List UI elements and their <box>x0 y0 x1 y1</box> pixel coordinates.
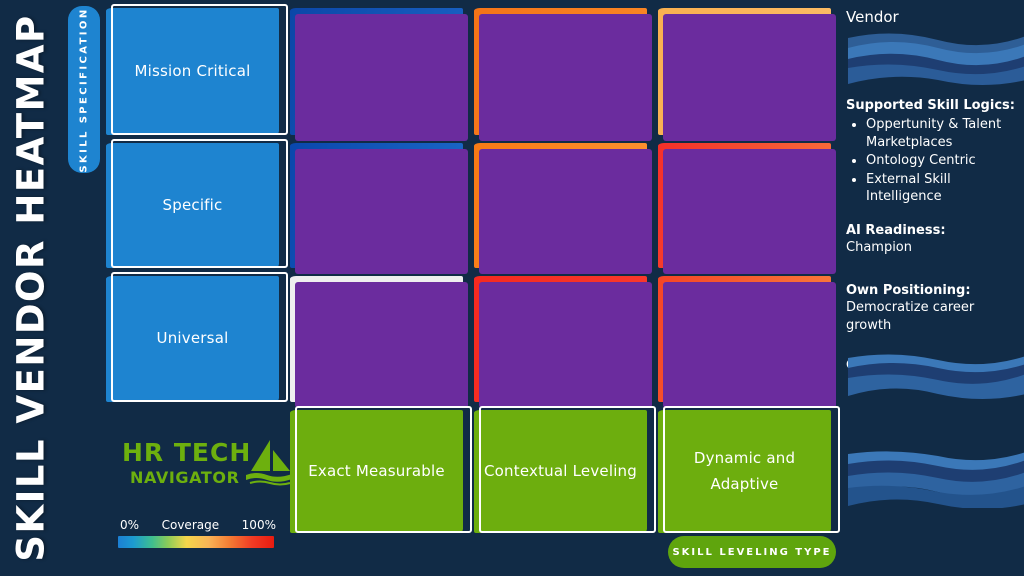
page-title: SKILL VENDOR HEATMAP <box>0 0 62 576</box>
heatmap-cell-label: 5 SKILLS AHEAD <box>680 63 810 80</box>
row-label-text: Universal <box>157 328 229 350</box>
heatmap-cell-card: 5 SKILLS AHEAD <box>658 8 831 135</box>
row-label-card: Universal <box>106 276 279 402</box>
heatmap-cell-label: ZERO-TOLERANCE ENVIRONMENTS <box>300 55 453 89</box>
column-label-card: Contextual Leveling <box>474 410 647 533</box>
heatmap-cell-card: ACT UNDER UNCERTAINCY <box>658 276 831 402</box>
heatmap-cell-card: LIQUID SKILL REQUIREMENTS <box>658 143 831 268</box>
column-label-cell[interactable]: Exact Measurable <box>290 410 463 533</box>
heatmap-cell-card: NONE (INTENTIONALLY) <box>290 276 463 402</box>
section-value: Champion <box>846 239 1022 257</box>
heatmap-cell-label: MASTER OF PROCESS <box>484 189 637 223</box>
heatmap-cell[interactable]: MASTER OF PROCESS <box>474 143 647 268</box>
heatmap-cell-label: SUFFICIENT, NOT PERFECT <box>484 322 637 356</box>
heatmap-cell[interactable]: SKILL-AS-A-LICENSE <box>290 143 463 268</box>
row-label-card: Specific <box>106 143 279 268</box>
vendor-sidebar: Vendor Supported Skill Logics: Oppertuni… <box>840 0 1024 576</box>
list-item: External Skill Intelligence <box>866 171 1022 206</box>
y-axis-label-tab: SKILL SPECIFICATION <box>68 6 100 173</box>
column-label-cell[interactable]: Contextual Leveling <box>474 410 647 533</box>
y-axis-label-text: SKILL SPECIFICATION <box>79 7 90 172</box>
heatmap-cell[interactable]: LIQUID SKILL REQUIREMENTS <box>658 143 831 268</box>
row-label-cell[interactable]: Universal <box>106 276 279 402</box>
legend-title: Coverage <box>162 518 220 532</box>
sailboat-icon <box>240 438 296 490</box>
heatmap-row: Mission Critical ZERO-TOLERANCE ENVIRONM… <box>106 8 836 135</box>
section-heading: AI Readiness: <box>846 223 1022 239</box>
coverage-legend: 0% Coverage 100% <box>118 518 278 548</box>
section-heading: Own Positioning: <box>846 283 1022 299</box>
heatmap-cell[interactable]: ZERO-TOLERANCE ENVIRONMENTS <box>290 8 463 135</box>
heatmap-cell-label: SKILL-AS-A-LICENSE <box>300 189 453 223</box>
heatmap-cell[interactable]: NONE (INTENTIONALLY) <box>290 276 463 402</box>
heatmap-cell-card: MASTER OF PROCESS <box>474 143 647 268</box>
row-label-card: Mission Critical <box>106 8 279 135</box>
skill-logics-list: Oppertunity & Talent Marketplaces Ontolo… <box>866 116 1022 206</box>
sidebar-section-clients: Clients: <box>846 358 1022 374</box>
column-label-card: Dynamic and Adaptive <box>658 410 831 533</box>
heatmap-cell-label: ACT UNDER UNCERTAINCY <box>668 322 821 356</box>
skill-vendor-heatmap-page: SKILL VENDOR HEATMAP SKILL SPECIFICATION… <box>0 0 1024 576</box>
section-heading: Clients: <box>846 358 1022 374</box>
list-item: Ontology Centric <box>866 152 1022 170</box>
x-axis-label-text: SKILL LEVELING TYPE <box>672 547 831 558</box>
heatmap-row: Universal NONE (INTENTIONALLY) SUFFICIEN… <box>106 276 836 402</box>
heatmap-cell-label: LIQUID SKILL REQUIREMENTS <box>668 189 821 223</box>
legend-min-label: 0% <box>120 518 139 532</box>
x-axis-label-badge: SKILL LEVELING TYPE <box>668 536 836 568</box>
heatmap-cell[interactable]: 5 SKILLS AHEAD <box>658 8 831 135</box>
column-label-card: Exact Measurable <box>290 410 463 533</box>
sidebar-section-ai-readiness: AI Readiness: Champion <box>846 223 1022 257</box>
section-value: Democratize career growth <box>846 299 1022 334</box>
heatmap-row: Specific SKILL-AS-A-LICENSE MASTER OF PR… <box>106 143 836 268</box>
column-label-text: Contextual Leveling <box>484 459 637 485</box>
row-label-cell[interactable]: Specific <box>106 143 279 268</box>
heatmap-cell[interactable]: SUFFICIENT, NOT PERFECT <box>474 276 647 402</box>
legend-max-label: 100% <box>242 518 276 532</box>
heatmap-cell[interactable]: ACT UNDER UNCERTAINCY <box>658 276 831 402</box>
column-label-text: Exact Measurable <box>308 459 445 485</box>
heatmap-cell-card: SUFFICIENT, NOT PERFECT <box>474 276 647 402</box>
row-label-text: Mission Critical <box>134 61 250 83</box>
row-label-text: Specific <box>163 195 223 217</box>
vendor-heading: Vendor <box>846 8 1022 26</box>
page-title-text: SKILL VENDOR HEATMAP <box>10 14 53 561</box>
legend-colorbar <box>118 536 274 548</box>
column-label-cell[interactable]: Dynamic and Adaptive <box>658 410 831 533</box>
heatmap-cell-card: RESULT TRUMPS PROCESS <box>474 8 647 135</box>
list-item: Oppertunity & Talent Marketplaces <box>866 116 1022 151</box>
heatmap-cell[interactable]: RESULT TRUMPS PROCESS <box>474 8 647 135</box>
section-heading: Supported Skill Logics: <box>846 98 1022 114</box>
heatmap-cell-card: ZERO-TOLERANCE ENVIRONMENTS <box>290 8 463 135</box>
column-label-text: Dynamic and Adaptive <box>668 446 821 497</box>
brand-logo: HR TECH NAVIGATOR <box>122 440 292 500</box>
heatmap-cell-label: NONE (INTENTIONALLY) <box>300 322 453 356</box>
heatmap-cell-label: RESULT TRUMPS PROCESS <box>484 55 637 89</box>
row-label-cell[interactable]: Mission Critical <box>106 8 279 135</box>
sidebar-section-own-positioning: Own Positioning: Democratize career grow… <box>846 283 1022 334</box>
heatmap-cell-card: SKILL-AS-A-LICENSE <box>290 143 463 268</box>
sidebar-section-skill-logics: Supported Skill Logics: Oppertunity & Ta… <box>846 98 1022 206</box>
